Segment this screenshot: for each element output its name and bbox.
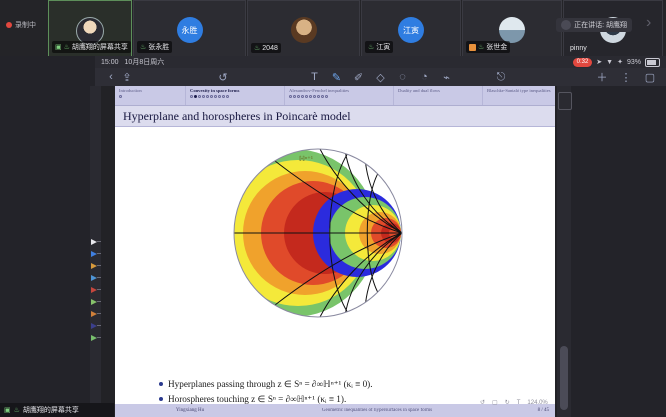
pen-swatch[interactable]	[90, 260, 101, 272]
battery-percent: 93%	[627, 59, 641, 66]
nav-dots	[190, 95, 280, 98]
pen-swatch[interactable]	[90, 284, 101, 296]
figure-label: ℍⁿ⁺¹	[299, 155, 313, 163]
microphone-icon: ♨	[254, 44, 260, 52]
participant-name: 张世金	[486, 42, 507, 52]
page-thumbnail-icon[interactable]	[558, 92, 572, 110]
list-item: Hyperplanes passing through z ∈ Sⁿ = ∂∞ℍ…	[159, 379, 539, 390]
left-background	[0, 60, 90, 417]
ruler-tool-icon[interactable]: ⌁	[439, 71, 455, 84]
pen-swatch[interactable]	[90, 308, 101, 320]
top-background	[0, 56, 95, 86]
footer-title: Geometric inequalities of hypersurfaces …	[265, 408, 489, 413]
undo-icon[interactable]: ↺	[480, 399, 485, 406]
avatar-initials: 永胜	[182, 25, 198, 36]
nav-section-alexandrov-fenchel[interactable]: Alexandrov-Fenchel inequalities	[285, 86, 394, 105]
bluetooth-icon: ✦	[617, 58, 623, 66]
recording-dot-icon	[6, 22, 12, 28]
recording-timer: 0:32	[573, 58, 593, 67]
avatar	[561, 20, 571, 30]
location-icon: ➤	[596, 58, 602, 66]
crop-icon[interactable]: ▢	[492, 399, 498, 406]
pen-color-palette[interactable]	[90, 86, 101, 416]
slide-body: ℍⁿ⁺¹ Hyperplanes passing through z ∈ Sⁿ …	[115, 127, 555, 405]
participant-name-bar: pinny	[567, 44, 590, 53]
right-background	[571, 86, 666, 417]
microphone-icon: ♨	[140, 43, 146, 51]
participant-strip: 录制中 ▣ ♨ 胡鹰翔的屏幕共享 永胜 ♨ 张永胜 ♨ 2048	[0, 0, 666, 60]
participant-name-bar: ♨ 江寅	[365, 41, 393, 53]
pen-swatch[interactable]	[90, 272, 101, 284]
pen-tool-icon[interactable]: ✎	[329, 71, 345, 84]
page-view-icon[interactable]: ▢	[642, 71, 658, 84]
footer-author: Yingxiang Hu	[115, 408, 265, 413]
scrollbar-thumb[interactable]	[560, 346, 568, 410]
kebab-menu-icon[interactable]: ⋮	[618, 71, 634, 84]
participant-name: 张永胜	[148, 42, 169, 52]
participant-tile-screenshare[interactable]: ▣ ♨ 胡鹰翔的屏幕共享	[48, 0, 132, 57]
nav-section-duality[interactable]: Duality and dual flows	[394, 86, 483, 105]
share-status-bar: ▣ ♨ 胡鹰翔的屏幕共享	[0, 403, 114, 417]
zoom-level-label: 124.0%	[527, 400, 547, 406]
nav-section-introduction[interactable]: Introduction	[115, 86, 186, 105]
share-status-label: 胡鹰翔的屏幕共享	[23, 405, 79, 415]
battery-icon	[645, 58, 660, 67]
pen-swatch[interactable]	[90, 248, 101, 260]
avatar	[291, 17, 317, 43]
active-speaker-chip: 正在讲话: 胡鹰翔	[556, 18, 632, 32]
bullet-dot-icon	[159, 397, 163, 401]
host-badge-icon	[469, 44, 476, 51]
poincare-disk-svg	[215, 133, 425, 343]
plus-icon[interactable]: ＋	[594, 69, 610, 85]
nav-section-convexity[interactable]: Convexity in space forms	[186, 86, 285, 105]
microphone-icon[interactable]: ⎋	[493, 71, 509, 84]
avatar: 永胜	[177, 17, 203, 43]
text-tool-icon[interactable]: T	[307, 71, 323, 83]
footer-page-number: 8 / 45	[489, 408, 555, 413]
recording-badge: 录制中	[6, 20, 36, 30]
participant-tile-jiangyin[interactable]: 江寅 ♨ 江寅	[361, 0, 461, 57]
participant-name-bar: ♨ 张永胜	[137, 41, 172, 53]
participant-tile-2048[interactable]: ♨ 2048	[247, 0, 360, 57]
pencil-tool-icon[interactable]: ✐	[351, 71, 367, 84]
pdf-side-rail[interactable]	[557, 86, 571, 417]
lasso-tool-icon[interactable]: ◔	[417, 71, 433, 83]
microphone-icon: ♨	[14, 406, 20, 414]
wifi-icon: ▼	[606, 59, 613, 66]
status-date: 10月8日周六	[125, 57, 165, 67]
pen-swatch[interactable]	[90, 320, 101, 332]
poincare-disk-figure: ℍⁿ⁺¹	[215, 133, 425, 343]
avatar	[499, 17, 525, 43]
slide-title: Hyperplane and horospheres in Poincarè m…	[115, 106, 555, 127]
participant-name: pinny	[570, 45, 587, 52]
pen-swatch[interactable]	[90, 296, 101, 308]
pen-swatch[interactable]	[90, 332, 101, 344]
participant-name: 胡鹰翔的屏幕共享	[72, 42, 128, 52]
strip-next-arrow-icon[interactable]: ›	[646, 14, 664, 40]
microphone-icon: ♨	[368, 43, 374, 51]
nav-dots	[289, 95, 389, 98]
participant-tile-zhangshijin[interactable]: ♨ 张世金	[462, 0, 562, 57]
eraser-tool-icon[interactable]: ◌	[395, 71, 411, 83]
rotate-icon[interactable]: ↻	[505, 399, 510, 406]
microphone-icon: ♨	[64, 43, 70, 51]
nav-section-label: Duality and dual flows	[398, 87, 478, 94]
recording-label: 录制中	[15, 20, 36, 30]
status-time: 15:00	[101, 59, 119, 66]
nav-section-label: Alexandrov-Fenchel inequalities	[289, 87, 389, 94]
ipad-status-bar: 15:00 10月8日周六 0:32 ➤ ▼ ✦ 93%	[95, 56, 666, 68]
share-up-icon[interactable]: ⇪	[119, 71, 135, 84]
screen-share-window: 录制中 ▣ ♨ 胡鹰翔的屏幕共享 永胜 ♨ 张永胜 ♨ 2048	[0, 0, 666, 417]
undo-arrow-icon[interactable]: ↺	[215, 71, 231, 84]
pen-swatch[interactable]	[90, 236, 101, 248]
text-icon[interactable]: T	[517, 400, 521, 406]
nav-section-label: Convexity in space forms	[190, 87, 280, 94]
nav-dots	[119, 95, 181, 98]
nav-section-blaschke-santalo[interactable]: Blaschke-Santaló type inequalities	[483, 86, 596, 105]
chevron-left-icon[interactable]: ‹	[103, 71, 119, 83]
active-speaker-label: 正在讲话: 胡鹰翔	[574, 20, 627, 30]
pdf-slide[interactable]: Introduction Convexity in space forms Al…	[115, 86, 555, 417]
nav-section-label: Introduction	[119, 87, 181, 94]
bullet-text: Hyperplanes passing through z ∈ Sⁿ = ∂∞ℍ…	[168, 379, 373, 390]
participant-name: 江寅	[376, 42, 390, 52]
participant-name-bar: ▣ ♨ 胡鹰翔的屏幕共享	[52, 41, 131, 53]
screen-share-icon: ▣	[55, 43, 62, 51]
screen-share-icon: ▣	[4, 406, 11, 414]
participant-name-bar: ♨ 张世金	[466, 41, 510, 53]
floating-format-toolbar[interactable]: ↺ ▢ ↻ T 124.0%	[480, 399, 548, 406]
nav-section-label: Blaschke-Santaló type inequalities	[487, 87, 592, 94]
bullet-dot-icon	[159, 382, 163, 386]
beamer-navigation-bar[interactable]: Introduction Convexity in space forms Al…	[115, 86, 555, 106]
avatar-initials: 江寅	[403, 25, 419, 36]
microphone-icon: ♨	[478, 43, 484, 51]
avatar: 江寅	[398, 17, 424, 43]
annotation-tools: T ✎ ✐ ◇ ◌ ◔ ⌁	[307, 71, 455, 84]
highlighter-tool-icon[interactable]: ◇	[373, 71, 389, 84]
participant-tile-zhangyongsheng[interactable]: 永胜 ♨ 张永胜	[133, 0, 246, 57]
pdf-toolbar: ‹ ⇪ ↺ T ✎ ✐ ◇ ◌ ◔ ⌁ ⎋ ＋ ⋮ ▢	[95, 68, 666, 86]
participant-name: 2048	[262, 45, 278, 52]
participant-name-bar: ♨ 2048	[251, 43, 281, 53]
